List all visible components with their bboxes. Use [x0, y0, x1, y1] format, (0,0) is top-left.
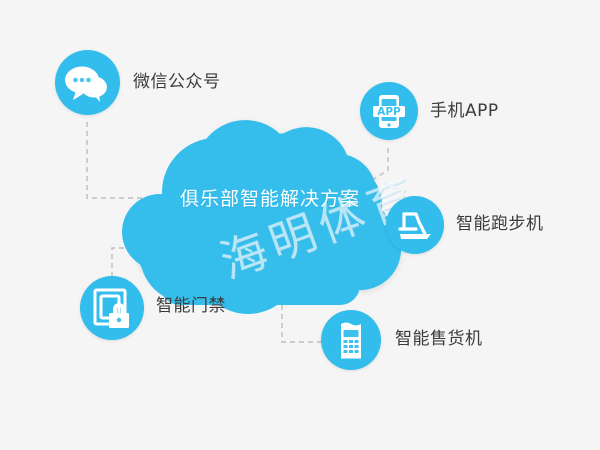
node-wechat-label: 微信公众号	[133, 74, 221, 91]
node-treadmill-label: 智能跑步机	[456, 216, 544, 233]
node-vending-circle[interactable]	[321, 310, 381, 370]
door-lock-icon	[80, 276, 144, 340]
node-access-circle[interactable]	[80, 276, 144, 340]
cloud-title: 俱乐部智能解决方案	[150, 190, 390, 209]
chat-bubbles-icon	[55, 50, 120, 115]
node-wechat-circle[interactable]	[55, 50, 120, 115]
treadmill-icon	[386, 196, 444, 254]
vending-machine-icon	[321, 310, 381, 370]
node-app-circle[interactable]: APP	[360, 82, 418, 140]
node-access-label: 智能门禁	[156, 298, 226, 315]
node-app-label: 手机APP	[430, 103, 499, 120]
node-vending-label: 智能售货机	[395, 331, 483, 348]
infographic-canvas: 海明体育 俱乐部智能解决方案 微信公众号	[0, 0, 600, 450]
node-treadmill-circle[interactable]	[386, 196, 444, 254]
mobile-app-icon-text: APP	[377, 106, 401, 118]
mobile-app-icon: APP	[360, 82, 418, 140]
